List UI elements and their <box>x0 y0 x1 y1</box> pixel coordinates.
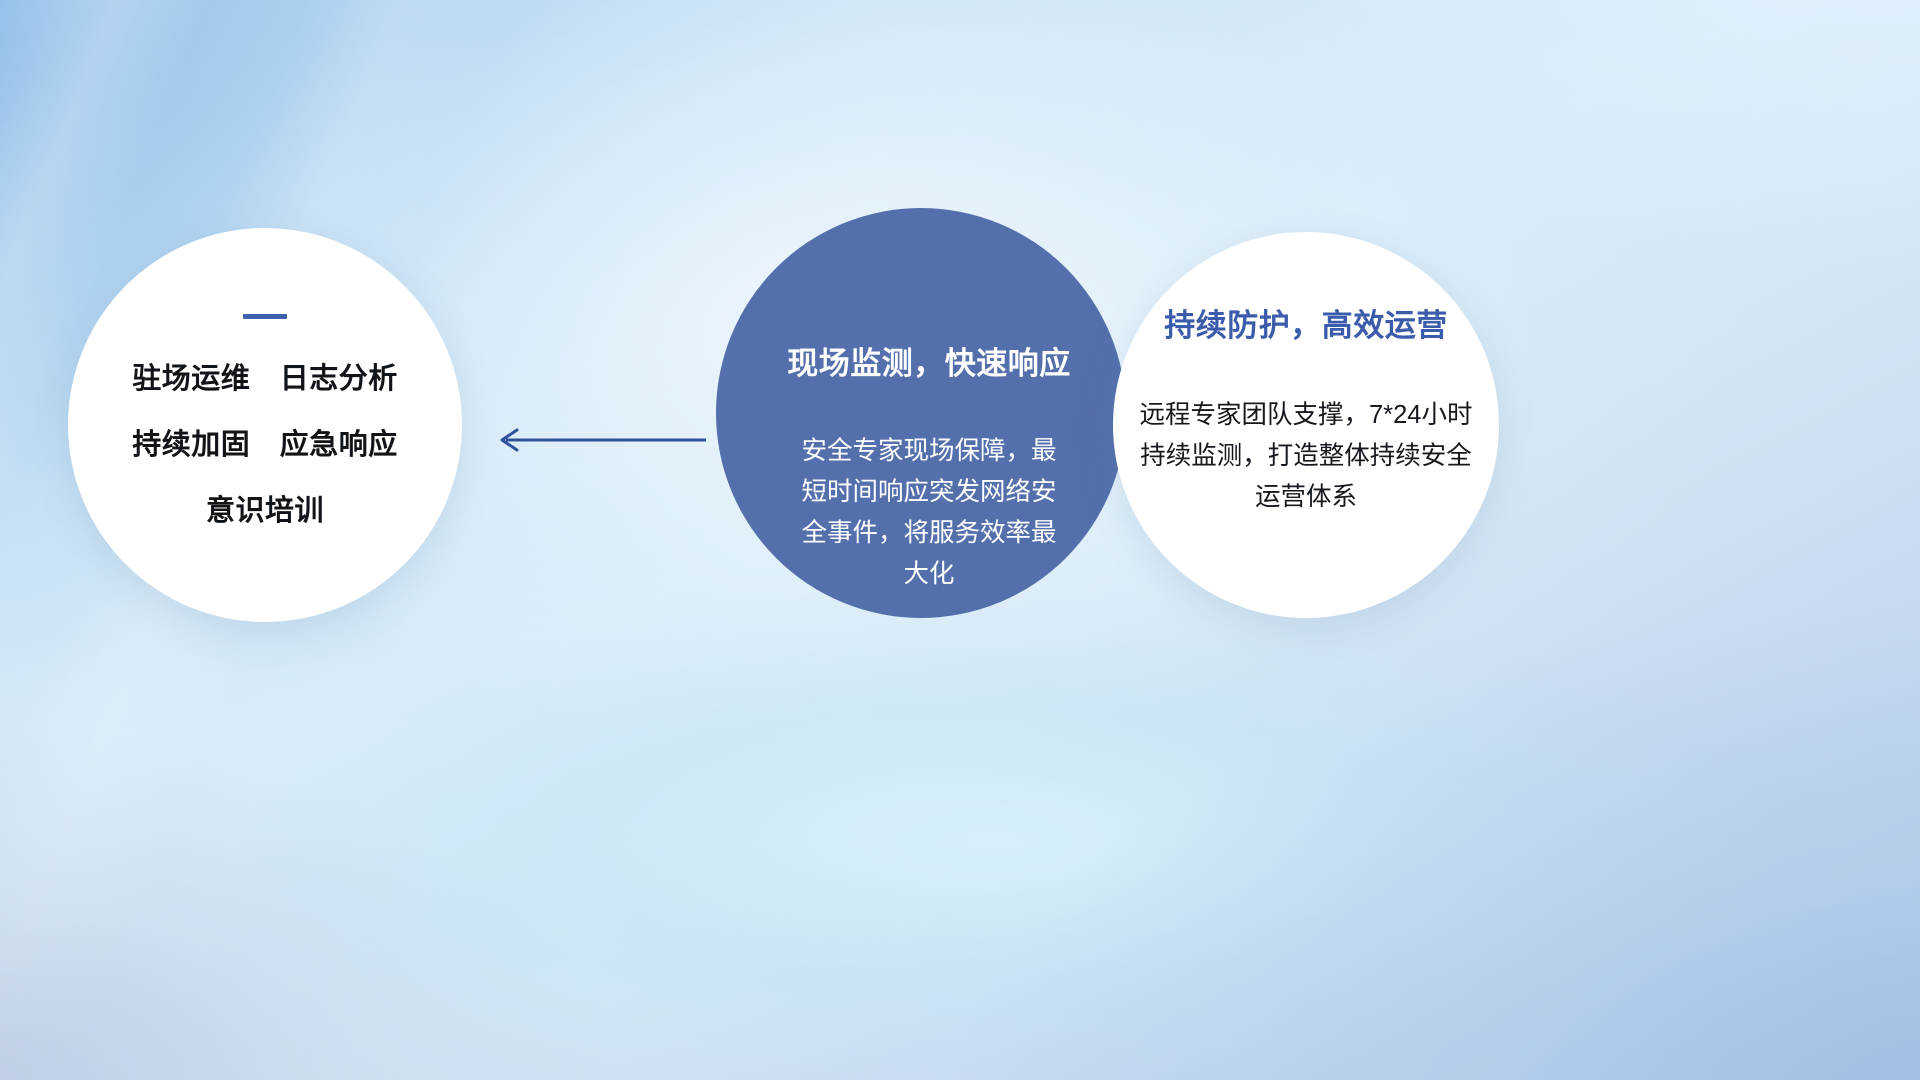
center-circle-content: 现场监测，快速响应 安全专家现场保障，最短时间响应突发网络安全事件，将服务效率最… <box>716 208 1126 618</box>
flow-arrow-left <box>490 424 710 461</box>
right-circle-title: 持续防护，高效运营 <box>1164 310 1448 341</box>
center-circle-node: 现场监测，快速响应 安全专家现场保障，最短时间响应突发网络安全事件，将服务效率最… <box>716 208 1126 618</box>
left-circle-node: 驻场运维 日志分析 持续加固 应急响应 意识培训 <box>68 228 462 622</box>
divider-dash <box>243 314 287 319</box>
center-circle-body: 安全专家现场保障，最短时间响应突发网络安全事件，将服务效率最大化 <box>796 431 1062 595</box>
left-circle-line-3: 意识培训 <box>206 497 324 526</box>
right-circle-content: 持续防护，高效运营 远程专家团队支撑，7*24小时持续监测，打造整体持续安全运营… <box>1113 232 1499 618</box>
left-circle-line-1: 驻场运维 日志分析 <box>132 365 398 394</box>
left-circle-content: 驻场运维 日志分析 持续加固 应急响应 意识培训 <box>68 228 462 622</box>
right-circle-node: 持续防护，高效运营 远程专家团队支撑，7*24小时持续监测，打造整体持续安全运营… <box>1113 232 1499 618</box>
center-circle-title: 现场监测，快速响应 <box>787 348 1071 379</box>
right-circle-body: 远程专家团队支撑，7*24小时持续监测，打造整体持续安全运营体系 <box>1133 395 1479 518</box>
left-circle-line-2: 持续加固 应急响应 <box>132 431 398 460</box>
